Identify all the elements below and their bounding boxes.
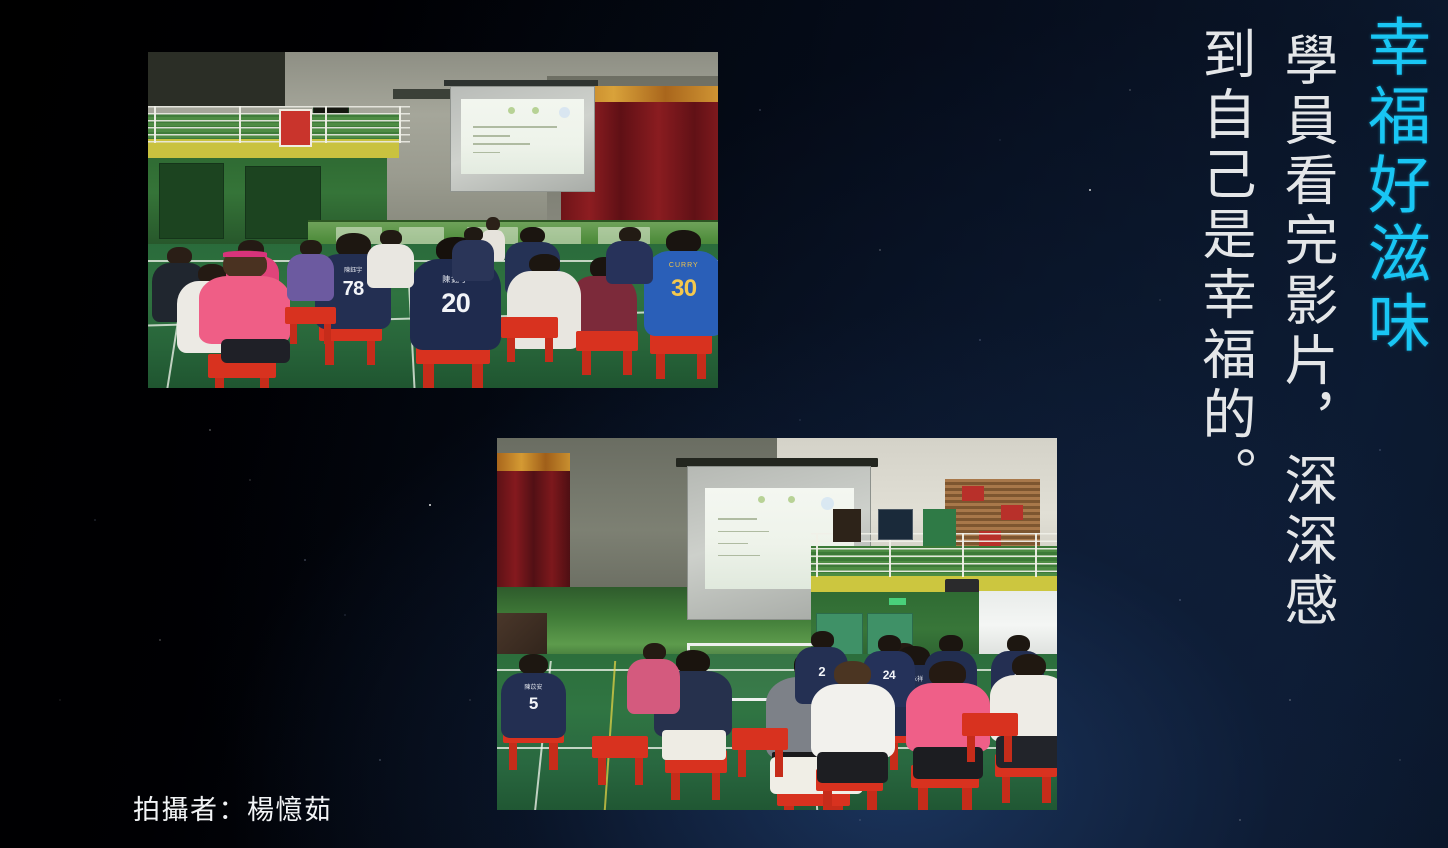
slide-text-line bbox=[718, 531, 769, 533]
slide-body-column-left: 到自己是幸福的。 bbox=[1197, 26, 1252, 506]
audience-member-back-row bbox=[365, 230, 416, 287]
caption-photographer: 拍攝者：楊憶茹 bbox=[133, 793, 418, 829]
slide-text-line bbox=[473, 143, 529, 145]
railing-post bbox=[325, 106, 327, 143]
torso bbox=[452, 240, 494, 281]
photo-gymnasium-presenter[interactable]: 陳苡安 5 bbox=[497, 438, 1057, 810]
photo-1-scene: 陳鈺宇 78 陳鈺宇 20 6 bbox=[148, 52, 718, 388]
slide-icon-dot bbox=[508, 107, 515, 114]
slat-red-sign bbox=[962, 486, 984, 501]
torso bbox=[811, 684, 895, 758]
slide-text-line bbox=[718, 555, 760, 557]
jersey-name: 陳苡安 bbox=[501, 682, 566, 691]
torso bbox=[627, 659, 680, 714]
torso bbox=[367, 244, 414, 287]
slat-red-sign bbox=[1001, 505, 1023, 520]
projected-slide bbox=[461, 99, 584, 174]
slide-text-line bbox=[473, 152, 500, 154]
red-stool bbox=[501, 317, 558, 337]
hair-band-pink bbox=[223, 251, 267, 257]
ceiling-shadow bbox=[148, 52, 285, 106]
railing-post bbox=[154, 106, 156, 143]
torso-jersey: 陳苡安 5 bbox=[501, 673, 566, 738]
jersey-number: 20 bbox=[410, 288, 501, 319]
photo-2-scene: 陳苡安 5 bbox=[497, 438, 1057, 810]
audience-member-back-row bbox=[604, 227, 655, 284]
slide-icon-dot bbox=[788, 496, 795, 503]
dark-skirt bbox=[817, 752, 888, 783]
slide-body-column-right: 學員看完影片，深深感 bbox=[1279, 32, 1334, 632]
green-door-left bbox=[159, 163, 224, 239]
presentation-slide: 陳鈺宇 78 陳鈺宇 20 6 bbox=[0, 0, 1448, 848]
audience-member-pink-foreground bbox=[199, 250, 290, 361]
slide-text-line bbox=[473, 135, 510, 137]
slide-icon-logo bbox=[559, 107, 570, 118]
slide-text-line bbox=[473, 126, 556, 128]
wall-picture-frame bbox=[878, 509, 914, 541]
slide-title-vertical: 幸福好滋味 bbox=[1362, 14, 1426, 359]
photo-caption-block: 拍攝者：楊憶茹 日期：2016/11/20 地點：漳和國中羽球館 bbox=[133, 722, 418, 848]
torso bbox=[199, 276, 290, 345]
audience-member-purple bbox=[285, 240, 336, 300]
red-stool bbox=[592, 736, 648, 758]
red-stool bbox=[650, 334, 713, 354]
torso bbox=[606, 241, 653, 284]
railing-post bbox=[239, 106, 241, 143]
student-jersey-5: 陳苡安 5 bbox=[500, 654, 567, 736]
head bbox=[519, 654, 549, 675]
stage-curtain-left bbox=[497, 453, 570, 594]
photo-gymnasium-audience-wide[interactable]: 陳鈺宇 78 陳鈺宇 20 6 bbox=[148, 52, 718, 388]
curtain-valance-left bbox=[497, 453, 570, 472]
slide-icon-dot bbox=[758, 496, 765, 503]
audience-member-back-row bbox=[450, 227, 496, 281]
railing-post bbox=[399, 106, 401, 143]
audience-member-white-tshirt bbox=[811, 661, 895, 780]
jersey-number: 5 bbox=[501, 694, 566, 714]
railing-post bbox=[1035, 533, 1037, 578]
exit-sign-green bbox=[889, 598, 906, 605]
railing-post bbox=[962, 533, 964, 578]
projection-screen bbox=[450, 86, 595, 192]
upper-green-door bbox=[923, 509, 957, 546]
railing-post bbox=[816, 533, 818, 578]
audience-member-white-right bbox=[990, 654, 1057, 766]
red-stool bbox=[285, 307, 336, 324]
slide-text-line bbox=[718, 518, 757, 520]
wall-poster-red bbox=[279, 109, 312, 147]
slide-icon-dot bbox=[532, 107, 539, 114]
red-stool bbox=[732, 728, 788, 750]
red-stool bbox=[962, 713, 1018, 735]
white-trousers bbox=[662, 730, 726, 760]
torso bbox=[287, 254, 334, 301]
red-stool bbox=[576, 331, 639, 351]
slide-text-line bbox=[718, 543, 748, 545]
upper-dark-door bbox=[833, 509, 861, 542]
legs-dark bbox=[221, 339, 290, 363]
audience-member-pink-back bbox=[626, 643, 682, 714]
